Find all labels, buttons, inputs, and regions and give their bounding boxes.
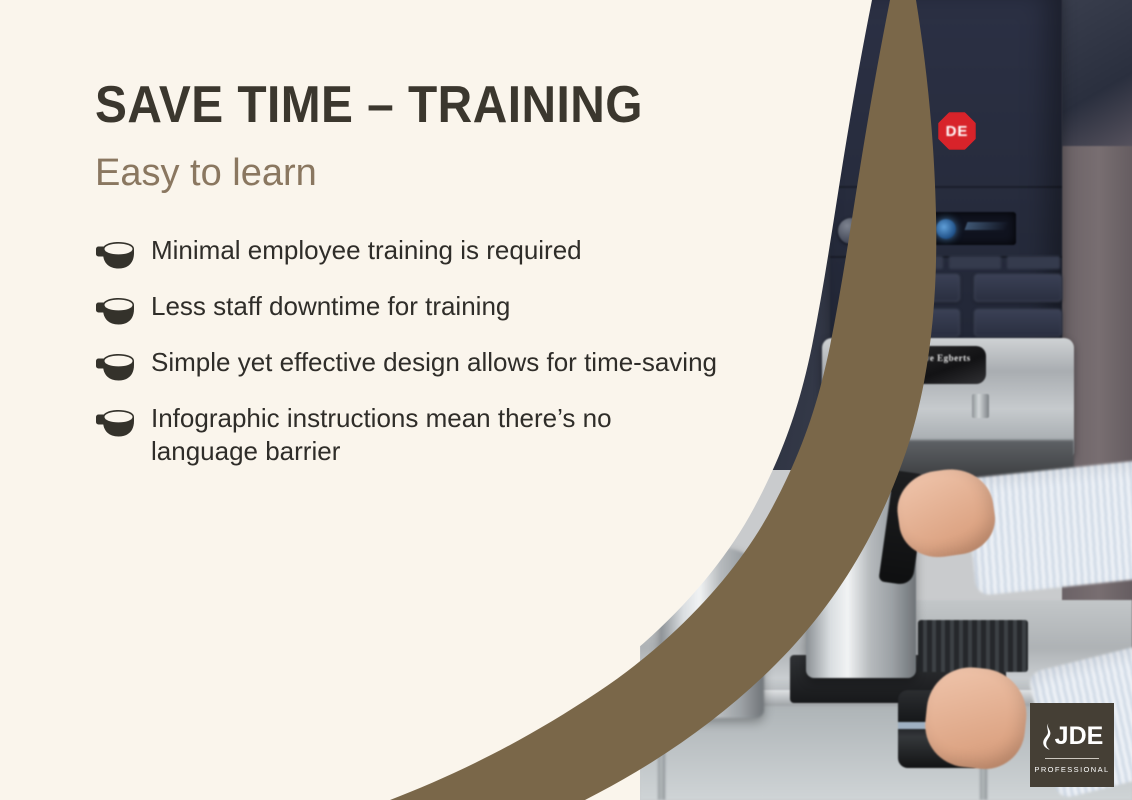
coffee-cup-icon	[95, 406, 137, 440]
dispenser-nozzle	[858, 394, 875, 418]
list-item-label: Less staff downtime for training	[151, 290, 510, 323]
jde-logo-main: JDE	[1041, 721, 1104, 751]
stainless-carafe-secondary	[660, 548, 764, 718]
page-title: SAVE TIME – TRAINING	[95, 76, 721, 134]
machine-label-strip	[890, 256, 1060, 269]
drip-tray-grate	[918, 620, 1028, 672]
steam-swirl-icon	[1041, 721, 1054, 751]
machine-button	[872, 274, 960, 302]
coffee-cup-icon	[95, 294, 137, 328]
list-item-label: Simple yet effective design allows for t…	[151, 346, 717, 379]
machine-button	[872, 309, 960, 337]
jde-wordmark: JDE	[1055, 723, 1104, 749]
list-item-label: Minimal employee training is required	[151, 234, 582, 267]
machine-panel-seam	[830, 186, 1062, 188]
list-item: Simple yet effective design allows for t…	[95, 346, 775, 384]
machine-button	[974, 274, 1062, 302]
jde-tagline: PROFESSIONAL	[1034, 765, 1109, 774]
list-item: Minimal employee training is required	[95, 234, 775, 272]
machine-dispenser-head: Douwe Egberts	[822, 338, 1074, 456]
benefit-list: Minimal employee training is required Le…	[95, 234, 775, 468]
machine-label-chip	[1007, 256, 1060, 269]
list-item: Infographic instructions mean there’s no…	[95, 402, 775, 468]
machine-knob	[838, 218, 864, 244]
list-item-label: Infographic instructions mean there’s no…	[151, 402, 641, 468]
list-item: Less staff downtime for training	[95, 290, 775, 328]
slide-content: SAVE TIME – TRAINING Easy to learn Minim…	[95, 76, 775, 486]
douwe-egberts-plaque: Douwe Egberts	[890, 346, 986, 384]
de-logo-badge: DE	[938, 112, 976, 150]
coffee-cup-icon	[95, 350, 137, 384]
machine-upper-side-panel	[1062, 0, 1132, 148]
machine-label-chip	[890, 256, 943, 269]
display-glare	[965, 222, 1010, 230]
machine-label-chip	[949, 256, 1002, 269]
jde-logo-divider	[1045, 758, 1099, 759]
counter-leg	[658, 706, 665, 800]
jde-professional-logo: JDE PROFESSIONAL	[1030, 703, 1114, 787]
display-cup-glyph-icon	[936, 219, 956, 239]
coffee-cup-icon	[95, 238, 137, 272]
slide-canvas: DE Douwe Egberts	[0, 0, 1132, 800]
machine-button	[974, 309, 1062, 337]
page-subtitle: Easy to learn	[95, 150, 775, 196]
dispenser-nozzle	[972, 394, 989, 418]
machine-display-screen	[888, 212, 1016, 245]
